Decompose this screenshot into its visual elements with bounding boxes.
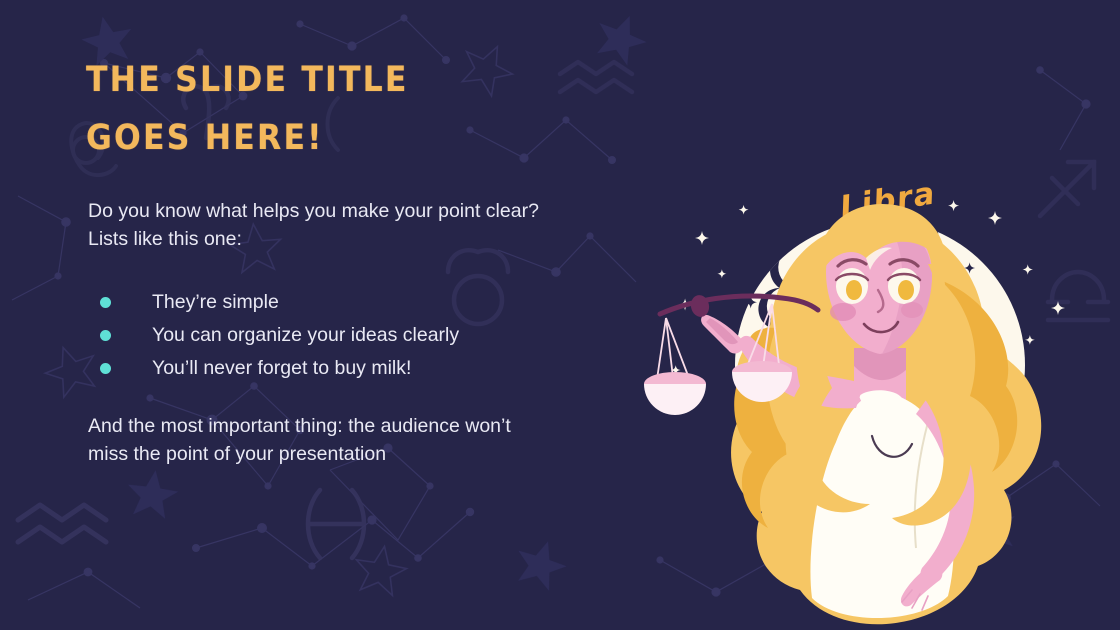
presentation-slide: THE SLIDE TITLE GOES HERE! Do you know w…	[0, 0, 1120, 630]
intro-line-2: Lists like this one:	[88, 226, 648, 254]
list-item: You’ll never forget to buy milk!	[100, 353, 459, 384]
intro-line-1: Do you know what helps you make your poi…	[88, 198, 648, 226]
list-item: You can organize your ideas clearly	[100, 320, 459, 351]
list-item-label: You can organize your ideas clearly	[152, 324, 459, 347]
libra-zodiac-illustration: Libra	[640, 160, 1120, 630]
slide-text-column: THE SLIDE TITLE GOES HERE! Do you know w…	[86, 56, 646, 163]
zodiac-glyph-aquarius	[18, 505, 106, 542]
zodiac-glyph-pisces	[308, 490, 364, 558]
bullet-dot-icon	[100, 330, 111, 341]
outro-line-1: And the most important thing: the audien…	[88, 413, 648, 441]
outro-paragraph: And the most important thing: the audien…	[88, 413, 648, 468]
bullet-dot-icon	[100, 297, 111, 308]
scale-pan-left	[644, 372, 706, 415]
intro-paragraph: Do you know what helps you make your poi…	[88, 198, 648, 253]
list-item-label: You’ll never forget to buy milk!	[152, 357, 411, 380]
bullet-list: They’re simple You can organize your ide…	[100, 287, 459, 386]
list-item-label: They’re simple	[152, 291, 279, 314]
list-item: They’re simple	[100, 287, 459, 318]
page-title: THE SLIDE TITLE GOES HERE!	[86, 56, 646, 163]
title-line-2: GOES HERE!	[86, 114, 646, 164]
outro-line-2: miss the point of your presentation	[88, 441, 648, 469]
title-line-1: THE SLIDE TITLE	[86, 56, 646, 106]
bullet-dot-icon	[100, 363, 111, 374]
